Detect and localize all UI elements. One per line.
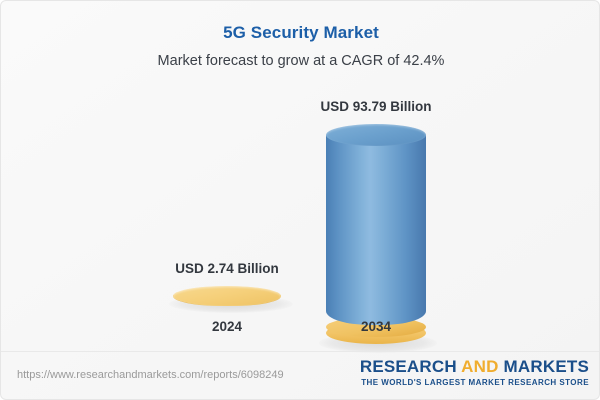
page-title: 5G Security Market: [1, 23, 600, 43]
bar-value-label-2024: USD 2.74 Billion: [147, 261, 307, 276]
bar-value-label-2034: USD 93.79 Billion: [296, 99, 456, 114]
source-url[interactable]: https://www.researchandmarkets.com/repor…: [17, 369, 284, 381]
chart-subtitle: Market forecast to grow at a CAGR of 42.…: [1, 53, 600, 69]
bar-top-ellipse-2024: [173, 286, 281, 306]
logo-word-research: RESEARCH: [360, 357, 457, 376]
bar-body-2034: [326, 135, 426, 325]
category-label-2034: 2034: [316, 319, 436, 334]
logo-tagline: THE WORLD'S LARGEST MARKET RESEARCH STOR…: [360, 378, 589, 387]
bar-top-ellipse-2034: [326, 124, 426, 146]
category-label-2024: 2024: [167, 319, 287, 334]
logo-word-and: AND: [461, 357, 498, 376]
footer: https://www.researchandmarkets.com/repor…: [1, 352, 600, 400]
bar-cylinder-2024[interactable]: [173, 286, 281, 312]
brand-logo[interactable]: RESEARCH AND MARKETS THE WORLD'S LARGEST…: [360, 357, 589, 387]
logo-word-markets: MARKETS: [504, 357, 589, 376]
plot-area: USD 2.74 Billion USD 93.79 Billion 2024 …: [1, 81, 600, 346]
bar-cylinder-2034[interactable]: [326, 124, 426, 349]
logo-wordmark: RESEARCH AND MARKETS: [360, 357, 589, 377]
chart-card: 5G Security Market Market forecast to gr…: [0, 0, 600, 400]
